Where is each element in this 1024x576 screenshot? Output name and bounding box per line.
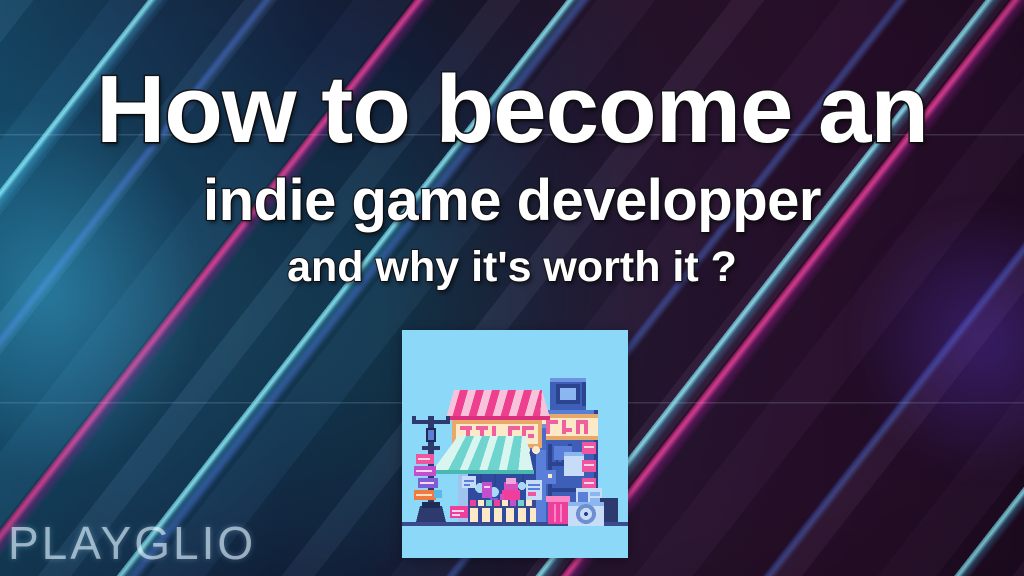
thumbnail-canvas: How to become an indie game developper a… [0, 0, 1024, 576]
title-block: How to become an indie game developper a… [0, 0, 1024, 289]
pixel-art-svg [402, 330, 628, 558]
brand-watermark: PLAYGLIO [8, 516, 256, 570]
title-line-1: How to become an [0, 62, 1024, 158]
title-line-3: and why it's worth it ? [0, 246, 1024, 289]
title-line-2: indie game developper [0, 172, 1024, 230]
pixel-art-shop-thumbnail [402, 330, 628, 558]
